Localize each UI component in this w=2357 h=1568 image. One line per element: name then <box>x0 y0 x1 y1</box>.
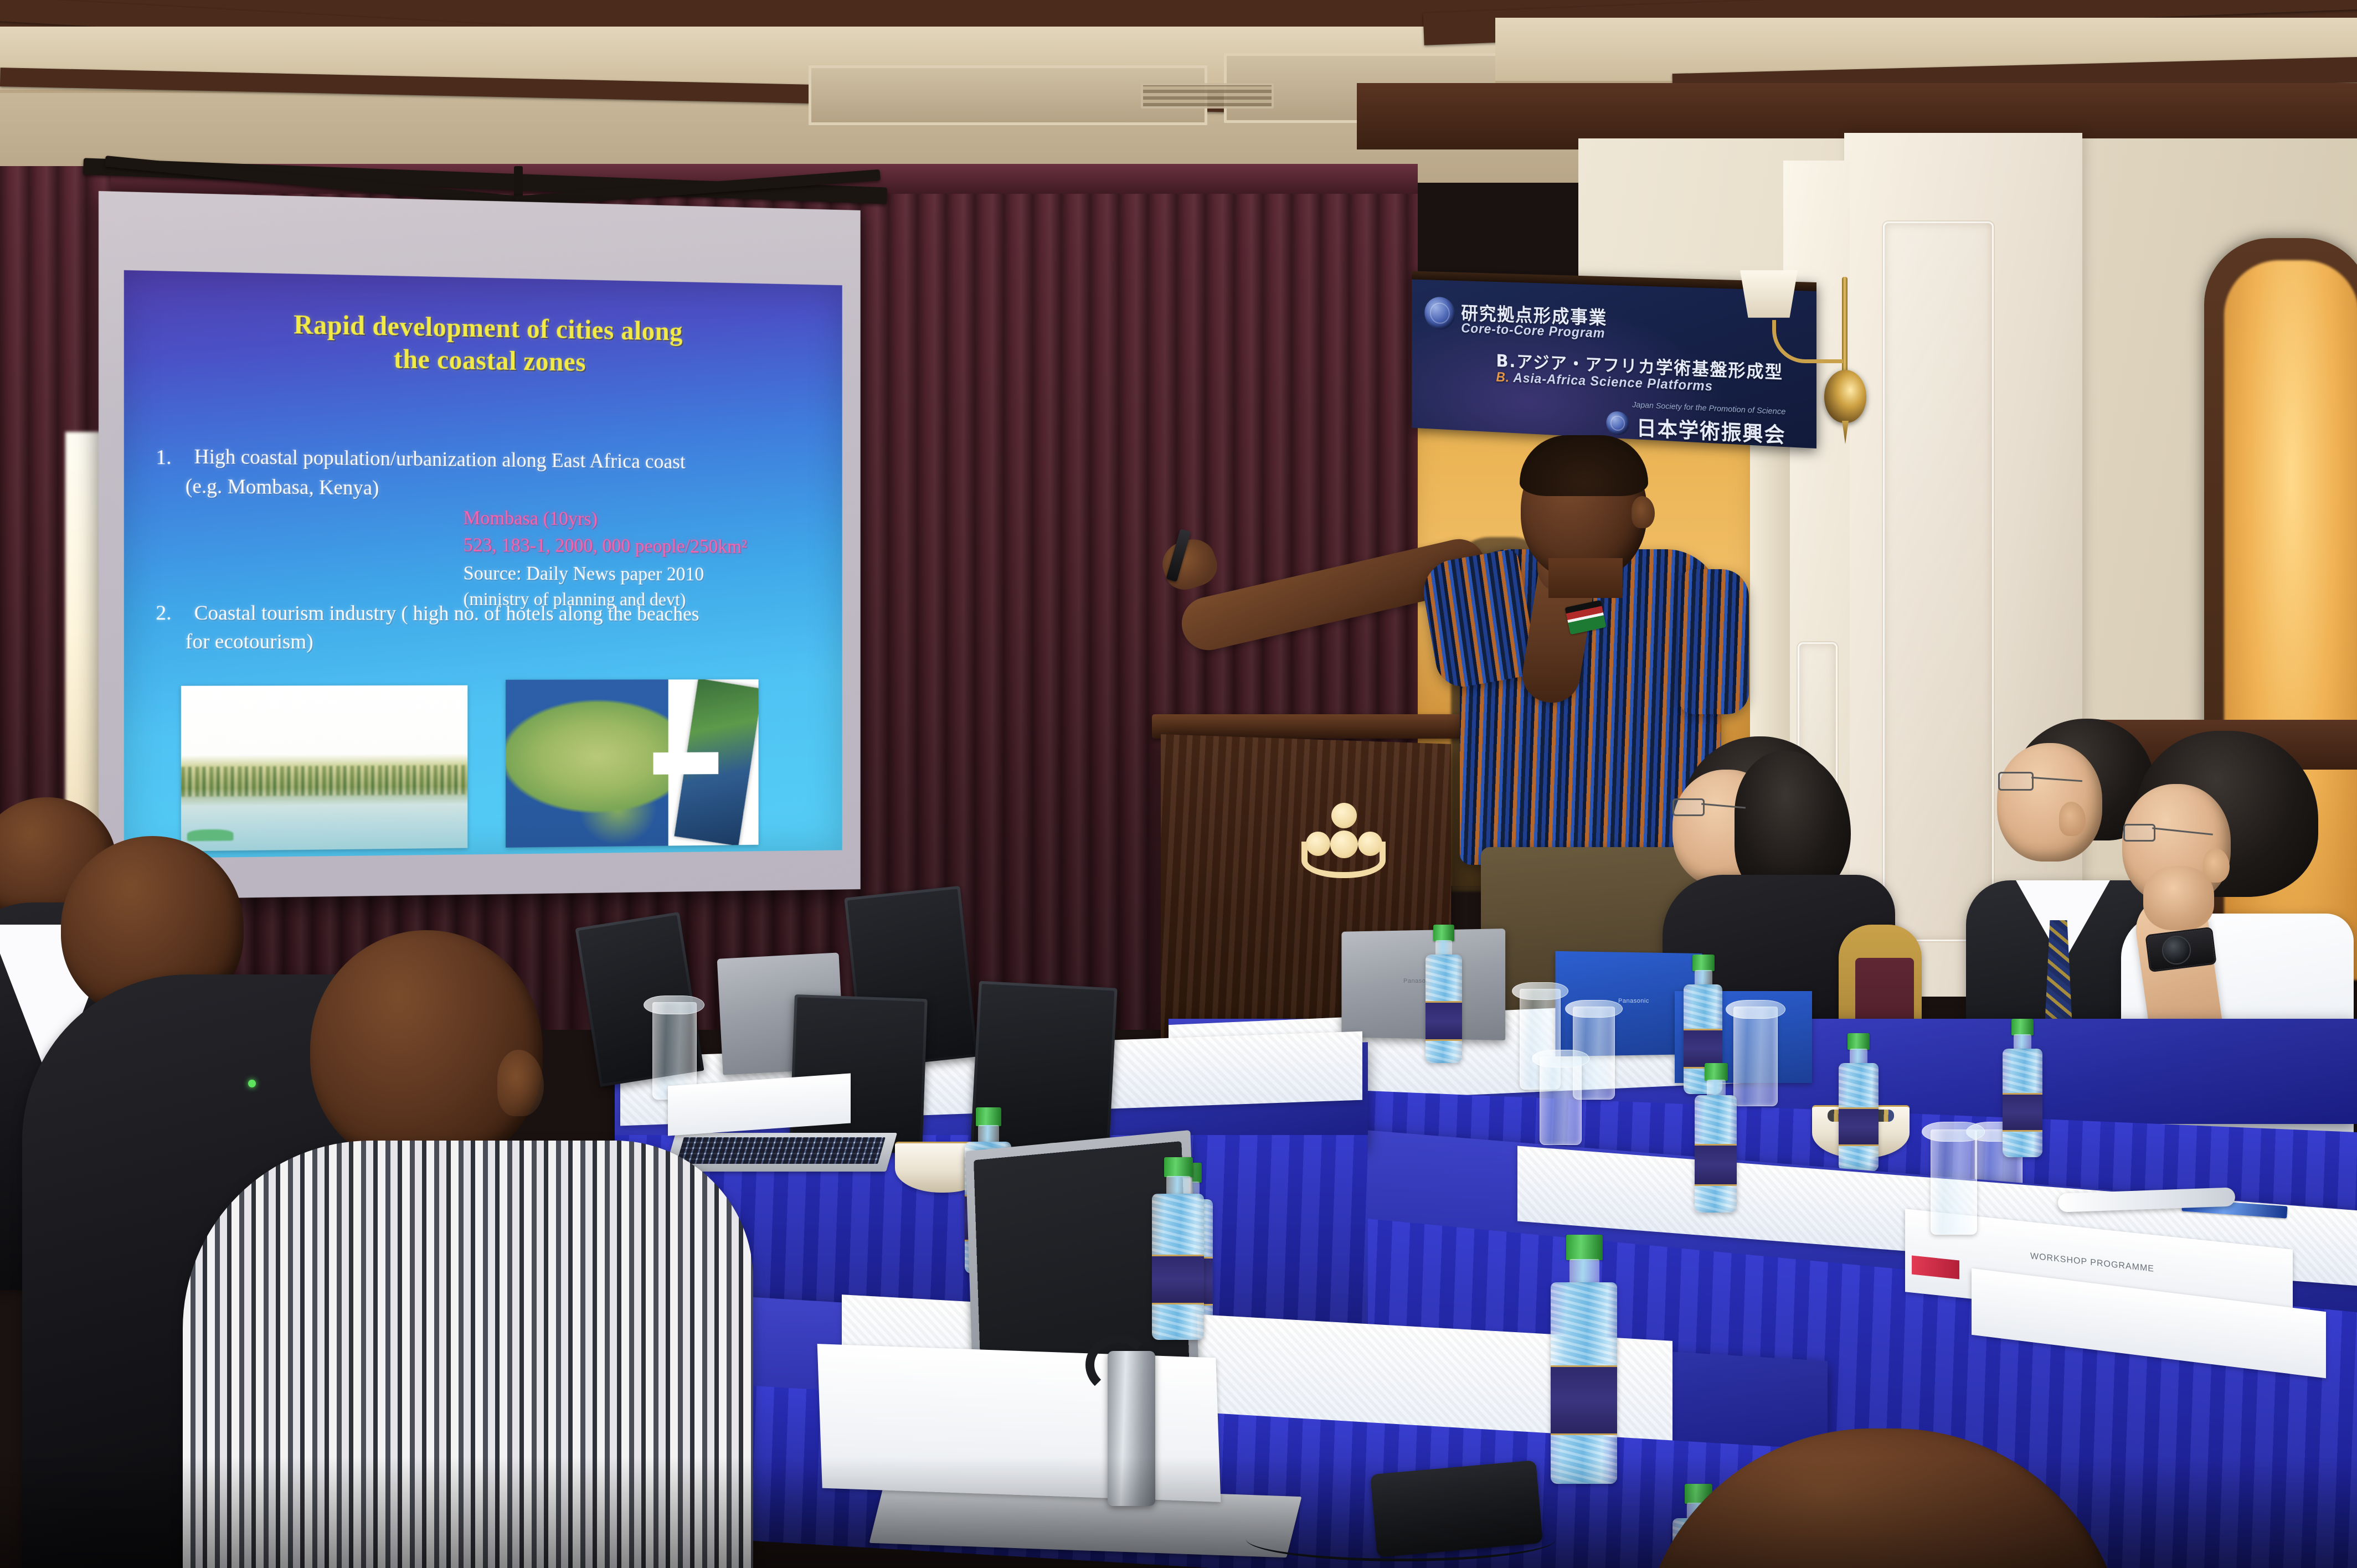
attendee2-glasses <box>1998 772 2034 791</box>
laptop-left-4-back <box>792 997 924 1151</box>
presenter-ear <box>1632 496 1655 528</box>
fg-striped-head <box>310 930 543 1168</box>
bottom-shadow-vignette <box>0 1457 2357 1568</box>
glass-carafe-mid-1-lip <box>1922 1122 1985 1142</box>
bottle-label-back-4 <box>2003 1093 2042 1132</box>
water-bottle-back-4[interactable] <box>2003 1019 2042 1157</box>
bullet-1-number: 1. <box>156 445 171 470</box>
glass-carafe-back-3-lip <box>1726 1000 1785 1019</box>
sconce-brass-ball <box>1824 370 1866 423</box>
presenter-sleeve-right <box>1678 569 1749 714</box>
bottle-cap-left-1[interactable] <box>976 1107 1001 1126</box>
glass-carafe-back-3[interactable] <box>1733 1007 1778 1106</box>
bottle-cap-foreground-2[interactable] <box>1164 1157 1193 1177</box>
attendee3-glasses <box>2123 824 2155 842</box>
bottle-body-mid-1 <box>1695 1095 1737 1213</box>
thermos-handle-foreground <box>1085 1334 1152 1395</box>
bottle-cap-foreground-1[interactable] <box>1566 1235 1603 1260</box>
bottle-neck-mid-1 <box>1707 1080 1726 1096</box>
bottle-label-mid-1 <box>1695 1144 1737 1186</box>
water-bottle-back-1[interactable] <box>1425 925 1462 1063</box>
coastal-city-photo <box>181 685 467 852</box>
bottle-label-back-1 <box>1425 1001 1462 1041</box>
bottle-neck-back-1 <box>1435 940 1452 956</box>
glass-carafe-back-2-lip <box>1565 1000 1623 1018</box>
water-bottle-back-3[interactable] <box>1839 1033 1879 1172</box>
screen-hook <box>514 166 523 198</box>
laptop-back-1-lid[interactable] <box>1341 929 1505 1040</box>
presenter-hair <box>1520 435 1648 496</box>
presenter-neck <box>1548 558 1623 598</box>
laptop-back-1[interactable]: Panasonic <box>1338 930 1504 1041</box>
laptop-left-4[interactable] <box>789 994 928 1154</box>
bottle-neck-foreground-2 <box>1166 1176 1191 1195</box>
bottle-body-foreground-1 <box>1551 1282 1617 1484</box>
attendee1-glasses <box>1672 798 1705 816</box>
water-bottle-foreground-2[interactable] <box>1152 1157 1204 1340</box>
bottle-neck-back-2 <box>1695 970 1712 986</box>
stat-pink-line2: 523, 183-1, 2000, 000 people/250km² <box>464 532 747 559</box>
laptop-back-2-brand: Panasonic <box>1618 998 1649 1004</box>
attendee2-head <box>1997 743 2102 862</box>
bottle-body-back-4 <box>2003 1049 2042 1157</box>
bullet-2-number: 2. <box>156 601 171 625</box>
conference-room-photograph: 研究拠点形成事業 Core-to-Core Program B.アジア・アフリカ… <box>0 0 2357 1568</box>
ceiling-vent <box>1141 83 1274 109</box>
attendee3-watch-face <box>2162 936 2191 964</box>
africa-map-photo <box>506 679 759 848</box>
bottle-body-foreground-2 <box>1152 1194 1204 1340</box>
water-bottle-mid-1[interactable] <box>1695 1063 1737 1213</box>
glass-carafe-mid-2-lip <box>1532 1050 1589 1067</box>
banner-line2-prefix: B. <box>1496 370 1510 385</box>
stat-pink-line1: Mombasa (10yrs) <box>464 505 598 531</box>
sconce-shade <box>1740 270 1798 318</box>
slide-image-coastal-city <box>181 685 467 852</box>
water-bottle-foreground-1[interactable] <box>1551 1235 1617 1484</box>
glass-carafe-mid-2[interactable] <box>1540 1056 1582 1145</box>
presentation-slide: Rapid development of cities along the co… <box>124 270 842 859</box>
bottle-neck-foreground-1 <box>1569 1259 1599 1283</box>
bullet-2-line2: for ecotourism) <box>186 628 313 655</box>
projection-screen: Rapid development of cities along the co… <box>99 191 861 900</box>
bottle-cap-back-4[interactable] <box>2011 1019 2034 1035</box>
bottle-body-back-1 <box>1425 955 1462 1063</box>
globe-icon-banner <box>1424 296 1455 330</box>
bullet-1-line1: High coastal population/urbanization alo… <box>194 443 686 475</box>
bullet-2-line1: Coastal tourism industry ( high no. of h… <box>194 600 699 627</box>
attendee3-hand-on-chin <box>2143 866 2214 930</box>
bottle-neck-back-3 <box>1850 1049 1867 1064</box>
stat-source-line1: Source: Daily News paper 2010 <box>464 560 704 586</box>
bottle-cap-back-3[interactable] <box>1847 1033 1870 1050</box>
bottle-cap-mid-1[interactable] <box>1705 1063 1728 1081</box>
bottle-neck-back-4 <box>2014 1034 2031 1050</box>
map-white-callout-bar <box>653 752 718 775</box>
glass-carafe-back-1-lip <box>1512 982 1568 1000</box>
glass-carafe-mid-1[interactable] <box>1931 1129 1977 1235</box>
bottle-cap-back-2[interactable] <box>1692 955 1715 971</box>
bottle-label-back-3 <box>1839 1107 1879 1146</box>
bottle-cap-back-1[interactable] <box>1433 925 1454 941</box>
bottle-body-back-3 <box>1839 1063 1879 1172</box>
bottle-label-foreground-2 <box>1152 1255 1204 1304</box>
bullet-1-line2: (e.g. Mombasa, Kenya) <box>186 473 379 502</box>
bottle-label-foreground-1 <box>1551 1365 1617 1435</box>
slide-image-africa-map <box>506 679 759 848</box>
